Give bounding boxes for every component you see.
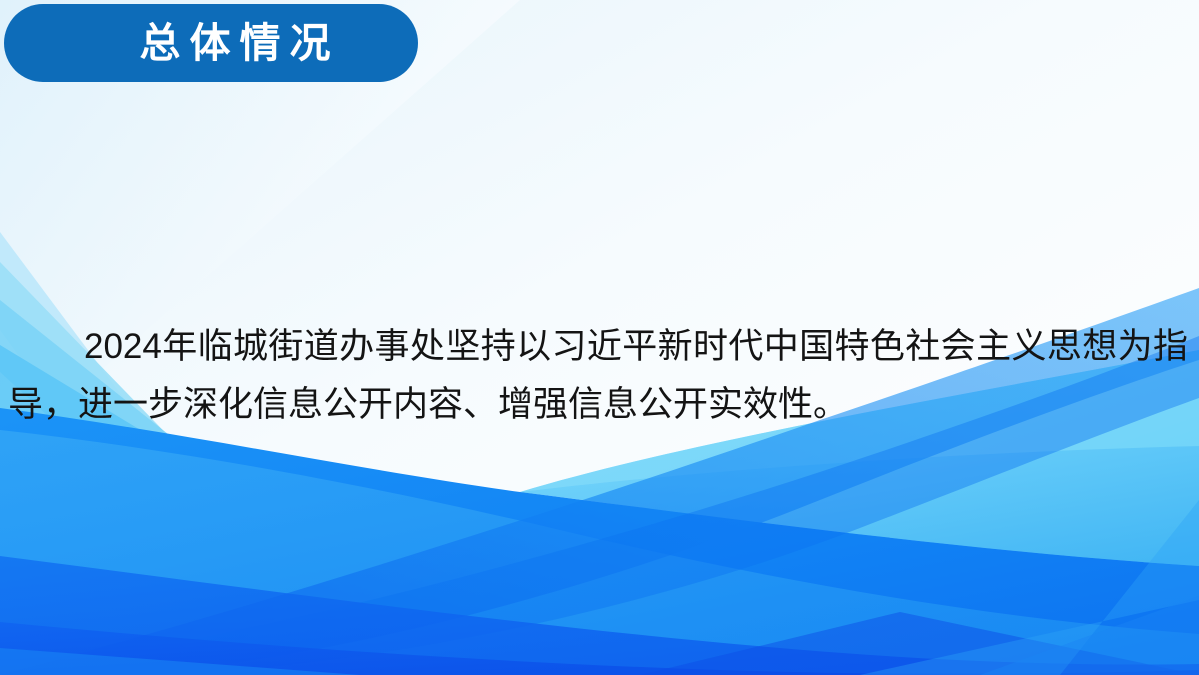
body-paragraph: 2024年临城街道办事处坚持以习近平新时代中国特色社会主义思想为指导，进一步深化… [8, 318, 1188, 434]
section-title-badge: 总体情况 [4, 4, 418, 82]
slide-canvas: 总体情况 2024年临城街道办事处坚持以习近平新时代中国特色社会主义思想为指导，… [0, 0, 1199, 675]
section-title-label: 总体情况 [131, 23, 340, 64]
